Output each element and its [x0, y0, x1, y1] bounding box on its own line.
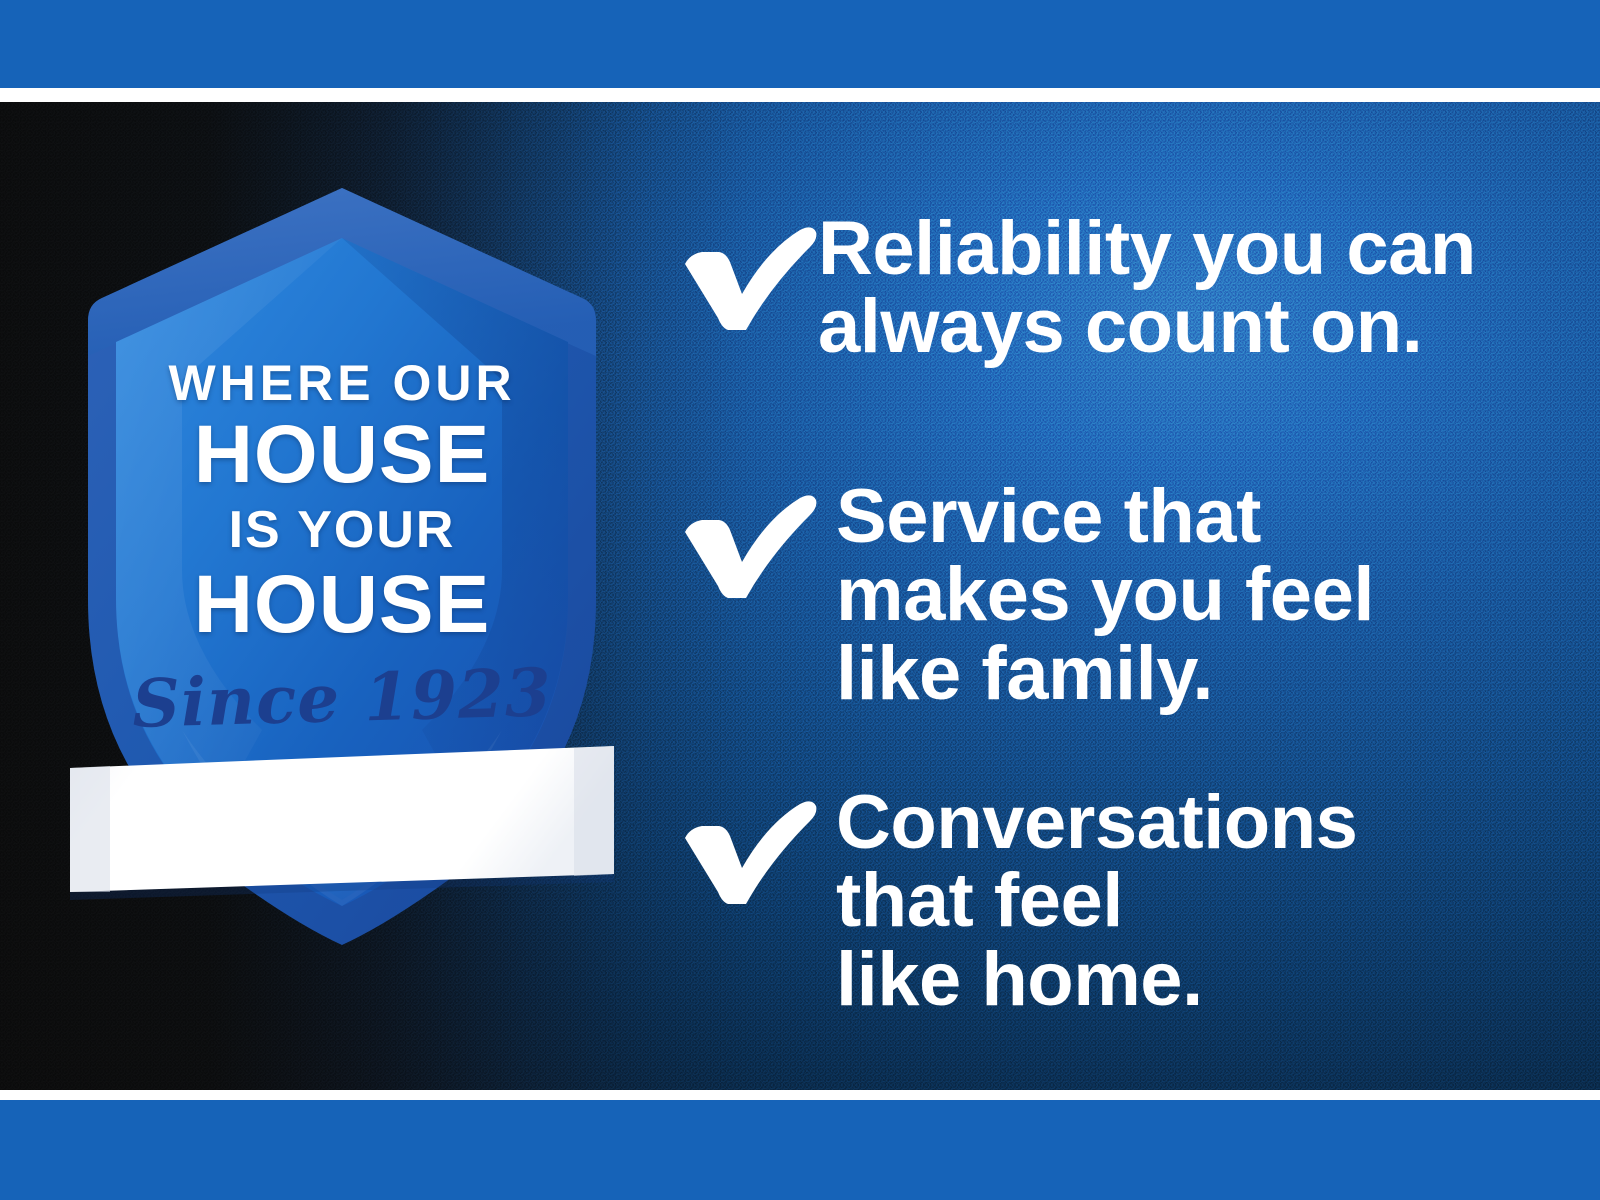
check-icon	[672, 786, 818, 906]
promo-graphic: WHERE OUR HOUSE IS YOUR HOUSE Since 1923…	[0, 0, 1600, 1200]
check-icon	[672, 212, 818, 332]
check-icon	[672, 480, 818, 600]
bottom-white-divider	[0, 1090, 1600, 1100]
benefit-item-1: Reliability you can always count on.	[672, 206, 1476, 367]
benefit-text-2: Service that makes you feel like family.	[836, 478, 1374, 713]
bottom-brand-bar	[0, 1100, 1600, 1200]
top-brand-bar	[0, 0, 1600, 88]
benefit-text-1: Reliability you can always count on.	[818, 210, 1476, 367]
top-white-divider	[0, 88, 1600, 102]
benefit-item-2: Service that makes you feel like family.	[672, 474, 1374, 713]
benefit-text-3: Conversations that feel like home.	[836, 784, 1357, 1019]
shield-badge: WHERE OUR HOUSE IS YOUR HOUSE Since 1923	[62, 170, 622, 950]
benefit-list: Reliability you can always count on. Ser…	[672, 102, 1572, 1090]
benefit-item-3: Conversations that feel like home.	[672, 780, 1357, 1019]
